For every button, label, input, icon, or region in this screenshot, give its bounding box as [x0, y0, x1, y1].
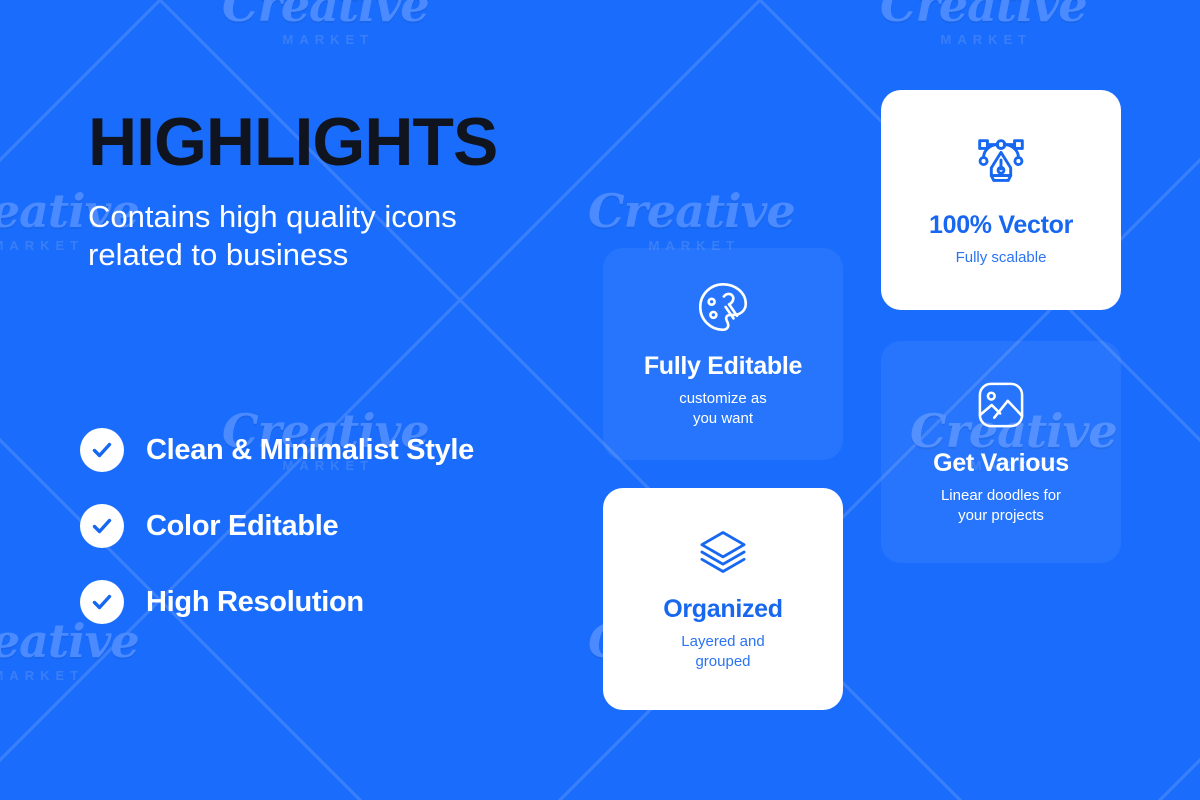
card-subtitle: Linear doodles for your projects [941, 486, 1061, 527]
watermark-subtitle: MARKET [0, 669, 139, 682]
watermark-script: Creative [588, 188, 795, 234]
page-title: HIGHLIGHTS [88, 108, 558, 176]
slide-canvas: Creative MARKET Creative MARKET Creative… [0, 0, 1200, 800]
check-icon [80, 580, 124, 624]
watermark-subtitle: MARKET [880, 33, 1087, 46]
card-get-various[interactable]: Get Various Linear doodles for your proj… [881, 341, 1121, 563]
card-subtitle: Layered and grouped [681, 632, 764, 673]
watermark: Creative MARKET [0, 618, 139, 682]
card-subtitle: customize as you want [679, 389, 767, 430]
watermark: Creative MARKET [880, 0, 1087, 46]
watermark-script: Creative [0, 618, 139, 664]
feature-label: Clean & Minimalist Style [146, 434, 474, 467]
card-vector[interactable]: 100% Vector Fully scalable [881, 90, 1121, 310]
card-title: Fully Editable [644, 353, 802, 381]
feature-list: Clean & Minimalist Style Color Editable … [80, 428, 600, 624]
card-title: 100% Vector [929, 212, 1073, 240]
watermark-script: Creative [880, 0, 1087, 28]
watermark: Creative MARKET [222, 0, 429, 46]
feature-item-clean-minimalist-style[interactable]: Clean & Minimalist Style [80, 428, 600, 472]
watermark-subtitle: MARKET [222, 33, 429, 46]
layers-icon [697, 526, 749, 578]
card-title: Get Various [933, 450, 1069, 478]
watermark: Creative MARKET [588, 188, 795, 252]
image-photo-icon [974, 378, 1028, 432]
feature-item-color-editable[interactable]: Color Editable [80, 504, 600, 548]
feature-label: High Resolution [146, 586, 364, 619]
card-title: Organized [663, 596, 783, 624]
check-icon [80, 504, 124, 548]
hero-section: HIGHLIGHTS Contains high quality icons r… [88, 108, 558, 274]
card-organized[interactable]: Organized Layered and grouped [603, 488, 843, 710]
check-icon [80, 428, 124, 472]
page-subtitle: Contains high quality icons related to b… [88, 198, 558, 274]
feature-item-high-resolution[interactable]: High Resolution [80, 580, 600, 624]
feature-label: Color Editable [146, 510, 338, 543]
card-subtitle: Fully scalable [956, 248, 1047, 268]
watermark-script: Creative [222, 0, 429, 28]
pen-tool-icon [970, 132, 1032, 194]
card-fully-editable[interactable]: Fully Editable customize as you want [603, 248, 843, 460]
paint-palette-icon [695, 279, 751, 335]
